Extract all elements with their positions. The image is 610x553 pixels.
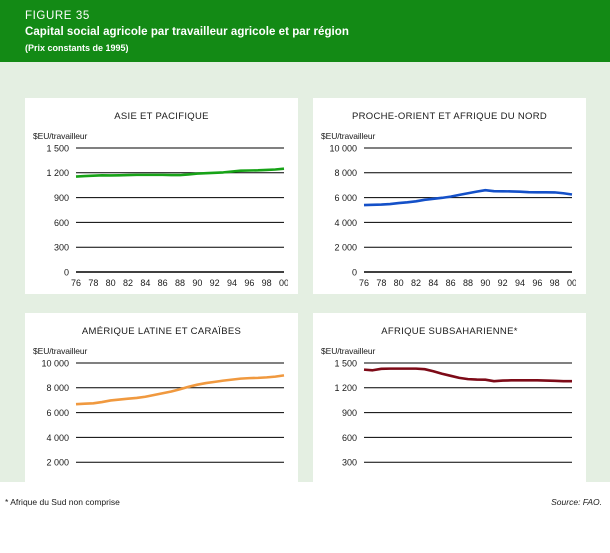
chart-title: ASIE ET PACIFIQUE [25, 98, 298, 122]
x-axis-tick-label: 98 [262, 278, 272, 288]
x-axis-tick-label: 92 [210, 278, 220, 288]
chart-panel-near-east-north-africa: PROCHE-ORIENT ET AFRIQUE DU NORD $EU/tra… [313, 98, 586, 294]
y-axis-tick-label: 900 [342, 408, 357, 418]
x-axis-tick-label: 94 [515, 278, 525, 288]
y-axis-tick-label: 900 [54, 193, 69, 203]
y-axis-tick-label: 0 [64, 267, 69, 277]
x-axis-tick-label: 94 [227, 278, 237, 288]
data-series-line [76, 375, 284, 404]
x-axis-tick-label: 84 [140, 278, 150, 288]
y-axis-tick-label: 600 [54, 218, 69, 228]
y-axis-tick-label: 0 [352, 267, 357, 277]
y-axis-tick-label: 600 [342, 433, 357, 443]
y-axis-tick-label: 1 200 [334, 383, 357, 393]
plot-area: 03006009001 2001 50076788082848688909294… [33, 144, 288, 294]
y-axis-unit-label: $EU/travailleur [313, 122, 586, 141]
x-axis-tick-label: 90 [192, 278, 202, 288]
x-axis-tick-label: 96 [532, 278, 542, 288]
x-axis-tick-label: 00 [279, 278, 288, 288]
x-axis-tick-label: 86 [446, 278, 456, 288]
y-axis-tick-label: 2 000 [46, 458, 69, 468]
x-axis-tick-label: 78 [376, 278, 386, 288]
y-axis-tick-label: 1 500 [46, 144, 69, 153]
y-axis-tick-label: 1 500 [334, 359, 357, 368]
x-axis-tick-label: 90 [480, 278, 490, 288]
x-axis-tick-label: 76 [359, 278, 369, 288]
source-note: Source: FAO. [551, 497, 602, 507]
y-axis-unit-label: $EU/travailleur [25, 337, 298, 356]
charts-area: ASIE ET PACIFIQUE $EU/travailleur 030060… [0, 62, 610, 482]
y-axis-tick-label: 6 000 [46, 408, 69, 418]
chart-title: PROCHE-ORIENT ET AFRIQUE DU NORD [313, 98, 586, 122]
x-axis-tick-label: 80 [106, 278, 116, 288]
y-axis-tick-label: 1 200 [46, 168, 69, 178]
x-axis-tick-label: 88 [463, 278, 473, 288]
x-axis-tick-label: 92 [498, 278, 508, 288]
x-axis-tick-label: 84 [428, 278, 438, 288]
x-axis-tick-label: 82 [123, 278, 133, 288]
x-axis-tick-label: 88 [175, 278, 185, 288]
y-axis-tick-label: 10 000 [41, 359, 69, 368]
y-axis-tick-label: 300 [54, 243, 69, 253]
y-axis-tick-label: 10 000 [329, 144, 357, 153]
y-axis-tick-label: 4 000 [334, 218, 357, 228]
x-axis-tick-label: 78 [88, 278, 98, 288]
data-series-line [364, 369, 572, 382]
y-axis-tick-label: 8 000 [46, 383, 69, 393]
footer-area: * Afrique du Sud non comprise Source: FA… [0, 482, 610, 553]
chart-panel-asia-pacific: ASIE ET PACIFIQUE $EU/travailleur 030060… [25, 98, 298, 294]
x-axis-tick-label: 98 [550, 278, 560, 288]
x-axis-tick-label: 00 [567, 278, 576, 288]
y-axis-tick-label: 8 000 [334, 168, 357, 178]
chart-title: AFRIQUE SUBSAHARIENNE* [313, 313, 586, 337]
x-axis-tick-label: 80 [394, 278, 404, 288]
x-axis-tick-label: 82 [411, 278, 421, 288]
y-axis-tick-label: 4 000 [46, 433, 69, 443]
figure-number: FIGURE 35 [25, 9, 610, 24]
figure-header: FIGURE 35 Capital social agricole par tr… [0, 0, 610, 62]
chart-title: AMÉRIQUE LATINE ET CARAÏBES [25, 313, 298, 337]
x-axis-tick-label: 96 [244, 278, 254, 288]
figure-subtitle: (Prix constants de 1995) [25, 41, 610, 55]
y-axis-tick-label: 300 [342, 458, 357, 468]
x-axis-tick-label: 76 [71, 278, 81, 288]
footnote: * Afrique du Sud non comprise [5, 497, 120, 507]
plot-area: 02 0004 0006 0008 00010 0007678808284868… [321, 144, 576, 294]
figure-title: Capital social agricole par travailleur … [25, 24, 610, 41]
x-axis-tick-label: 86 [158, 278, 168, 288]
y-axis-tick-label: 2 000 [334, 243, 357, 253]
y-axis-unit-label: $EU/travailleur [25, 122, 298, 141]
y-axis-unit-label: $EU/travailleur [313, 337, 586, 356]
y-axis-tick-label: 6 000 [334, 193, 357, 203]
